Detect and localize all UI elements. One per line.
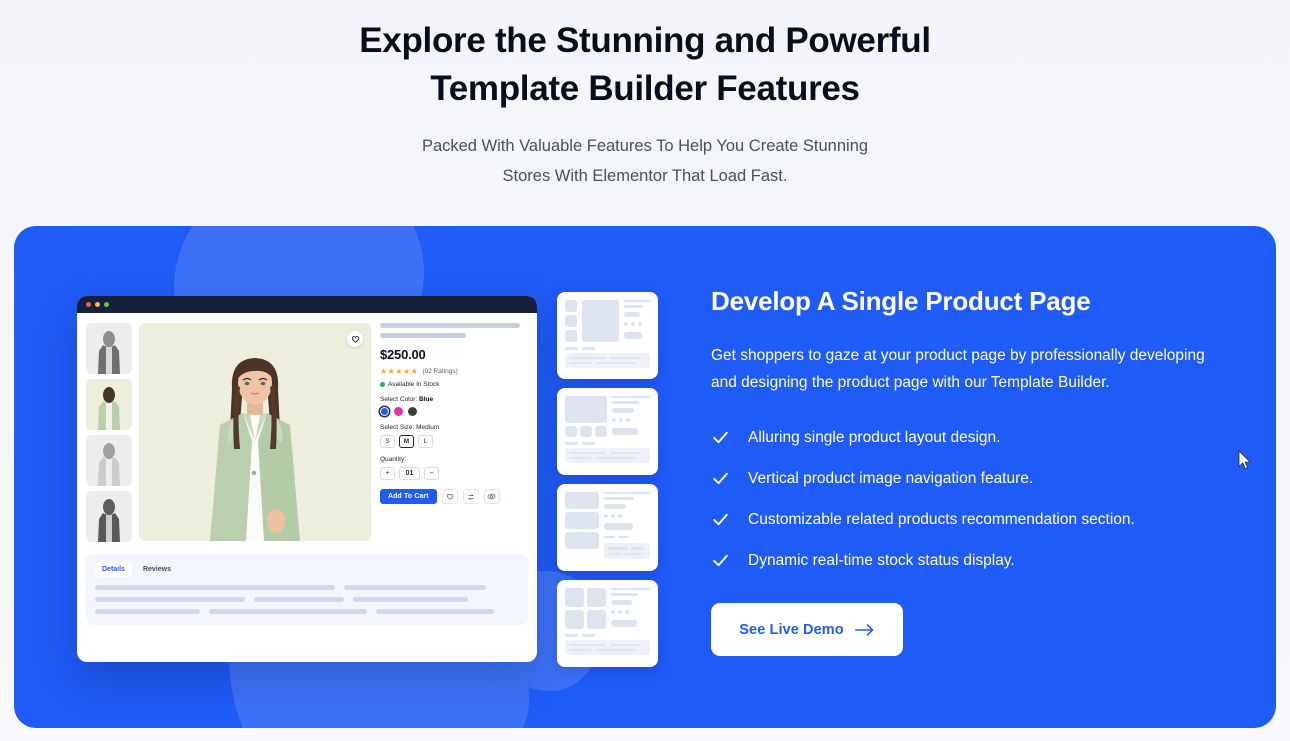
placeholder-line	[95, 597, 245, 602]
tab-reviews[interactable]: Reviews	[136, 562, 178, 577]
size-label-text: Select Size:	[380, 424, 414, 431]
page-title-line-1: Explore the Stunning and Powerful	[0, 17, 1290, 65]
model-figure-icon	[94, 386, 124, 430]
layout-variant-1[interactable]	[557, 292, 658, 379]
placeholder-row	[95, 609, 519, 614]
arrow-right-icon	[855, 623, 875, 637]
model-photo-illustration	[180, 345, 330, 541]
title-placeholder-short	[380, 333, 466, 338]
check-icon	[711, 469, 730, 488]
placeholder-line	[209, 609, 367, 614]
compare-action-button[interactable]	[463, 489, 479, 504]
model-figure-icon	[94, 498, 124, 542]
color-swatches	[380, 407, 528, 416]
product-thumb-4[interactable]	[86, 491, 132, 542]
layout-variant-2[interactable]	[557, 388, 658, 475]
see-live-demo-label: See Live Demo	[739, 622, 843, 638]
size-selected-value: Medium	[416, 424, 439, 431]
rating-count: (02 Ratings)	[422, 368, 457, 375]
quick-view-action-button[interactable]	[484, 489, 500, 504]
feature-list: Alluring single product layout design. V…	[711, 428, 1231, 570]
quick-view-icon	[487, 492, 496, 501]
size-option-s[interactable]: S	[380, 435, 395, 448]
heart-icon	[446, 493, 454, 501]
check-icon	[711, 510, 730, 529]
feature-label: Dynamic real-time stock status display.	[748, 552, 1015, 570]
page-root: Explore the Stunning and Powerful Templa…	[0, 0, 1290, 741]
check-icon	[711, 428, 730, 447]
model-figure-icon	[94, 330, 124, 374]
mockup-titlebar	[77, 296, 537, 313]
page-subtitle-line-1: Packed With Valuable Features To Help Yo…	[0, 131, 1290, 161]
color-label-text: Select Color:	[380, 396, 417, 403]
check-icon	[711, 551, 730, 570]
close-dot-icon	[86, 302, 91, 307]
tab-details[interactable]: Details	[95, 562, 132, 577]
browser-mockup: $250.00 ★★★★★ (02 Ratings) Available In …	[77, 296, 537, 662]
feature-content: Develop A Single Product Page Get shoppe…	[711, 286, 1231, 656]
placeholder-line	[254, 597, 344, 602]
title-placeholder-long	[380, 323, 520, 328]
placeholder-line	[95, 585, 335, 590]
tab-content-placeholder	[95, 585, 519, 614]
placeholder-row	[95, 585, 519, 590]
feature-panel: $250.00 ★★★★★ (02 Ratings) Available In …	[14, 226, 1276, 728]
placeholder-row	[95, 597, 519, 602]
product-rating: ★★★★★ (02 Ratings)	[380, 367, 528, 376]
wishlist-button[interactable]	[347, 331, 363, 347]
feature-item: Dynamic real-time stock status display.	[711, 551, 1231, 570]
color-swatch-dark[interactable]	[408, 407, 417, 416]
page-subtitle: Packed With Valuable Features To Help Yo…	[0, 131, 1290, 191]
feature-title: Develop A Single Product Page	[711, 286, 1231, 317]
size-option-l[interactable]: L	[418, 435, 433, 448]
layout-variant-list	[557, 292, 658, 667]
product-tabs: Details Reviews	[95, 562, 519, 577]
quantity-increase-button[interactable]: +	[380, 467, 395, 480]
product-hero-image[interactable]	[139, 323, 371, 541]
color-selected-value: Blue	[419, 396, 433, 403]
quantity-label: Quantity:	[380, 456, 528, 463]
star-rating-icon: ★★★★★	[380, 367, 418, 376]
placeholder-line	[353, 597, 468, 602]
layout-variant-4[interactable]	[557, 580, 658, 667]
stock-status: Available In Stock	[380, 381, 528, 388]
product-page-body: $250.00 ★★★★★ (02 Ratings) Available In …	[77, 313, 537, 542]
size-options: S M L	[380, 435, 528, 448]
page-title: Explore the Stunning and Powerful Templa…	[0, 17, 1290, 113]
model-figure-icon	[94, 442, 124, 486]
product-gallery-thumbnails	[86, 323, 132, 542]
wishlist-action-button[interactable]	[442, 489, 458, 504]
product-thumb-1[interactable]	[86, 323, 132, 374]
quantity-stepper: + 01 −	[380, 467, 528, 480]
product-tabs-panel: Details Reviews	[86, 554, 528, 625]
quantity-decrease-button[interactable]: −	[424, 467, 439, 480]
see-live-demo-button[interactable]: See Live Demo	[711, 603, 903, 656]
product-thumb-2[interactable]	[86, 379, 132, 430]
product-info: $250.00 ★★★★★ (02 Ratings) Available In …	[378, 323, 528, 542]
add-to-cart-button[interactable]: Add To Cart	[380, 489, 437, 504]
product-thumb-3[interactable]	[86, 435, 132, 486]
color-swatch-blue[interactable]	[380, 407, 389, 416]
placeholder-line	[376, 609, 494, 614]
size-option-m[interactable]: M	[399, 435, 414, 448]
placeholder-line	[344, 585, 486, 590]
size-option-label: Select Size: Medium	[380, 424, 528, 431]
product-actions: Add To Cart	[380, 489, 528, 504]
layout-variant-3[interactable]	[557, 484, 658, 571]
minimize-dot-icon	[95, 302, 100, 307]
feature-item: Customizable related products recommenda…	[711, 510, 1231, 529]
page-header: Explore the Stunning and Powerful Templa…	[0, 0, 1290, 191]
feature-label: Vertical product image navigation featur…	[748, 470, 1033, 488]
feature-item: Alluring single product layout design.	[711, 428, 1231, 447]
compare-icon	[467, 493, 475, 501]
placeholder-line	[95, 609, 200, 614]
color-swatch-pink[interactable]	[394, 407, 403, 416]
feature-item: Vertical product image navigation featur…	[711, 469, 1231, 488]
page-title-line-2: Template Builder Features	[0, 65, 1290, 113]
stock-status-label: Available In Stock	[388, 381, 440, 388]
stock-dot-icon	[380, 382, 385, 387]
page-subtitle-line-2: Stores With Elementor That Load Fast.	[0, 161, 1290, 191]
feature-label: Customizable related products recommenda…	[748, 511, 1135, 529]
quantity-value[interactable]: 01	[399, 467, 420, 480]
product-price: $250.00	[380, 347, 528, 362]
mouse-pointer-icon	[1238, 450, 1252, 471]
maximize-dot-icon	[104, 302, 109, 307]
heart-icon	[351, 335, 360, 344]
feature-label: Alluring single product layout design.	[748, 429, 1000, 447]
color-option-label: Select Color: Blue	[380, 396, 528, 403]
feature-description: Get shoppers to gaze at your product pag…	[711, 343, 1205, 396]
